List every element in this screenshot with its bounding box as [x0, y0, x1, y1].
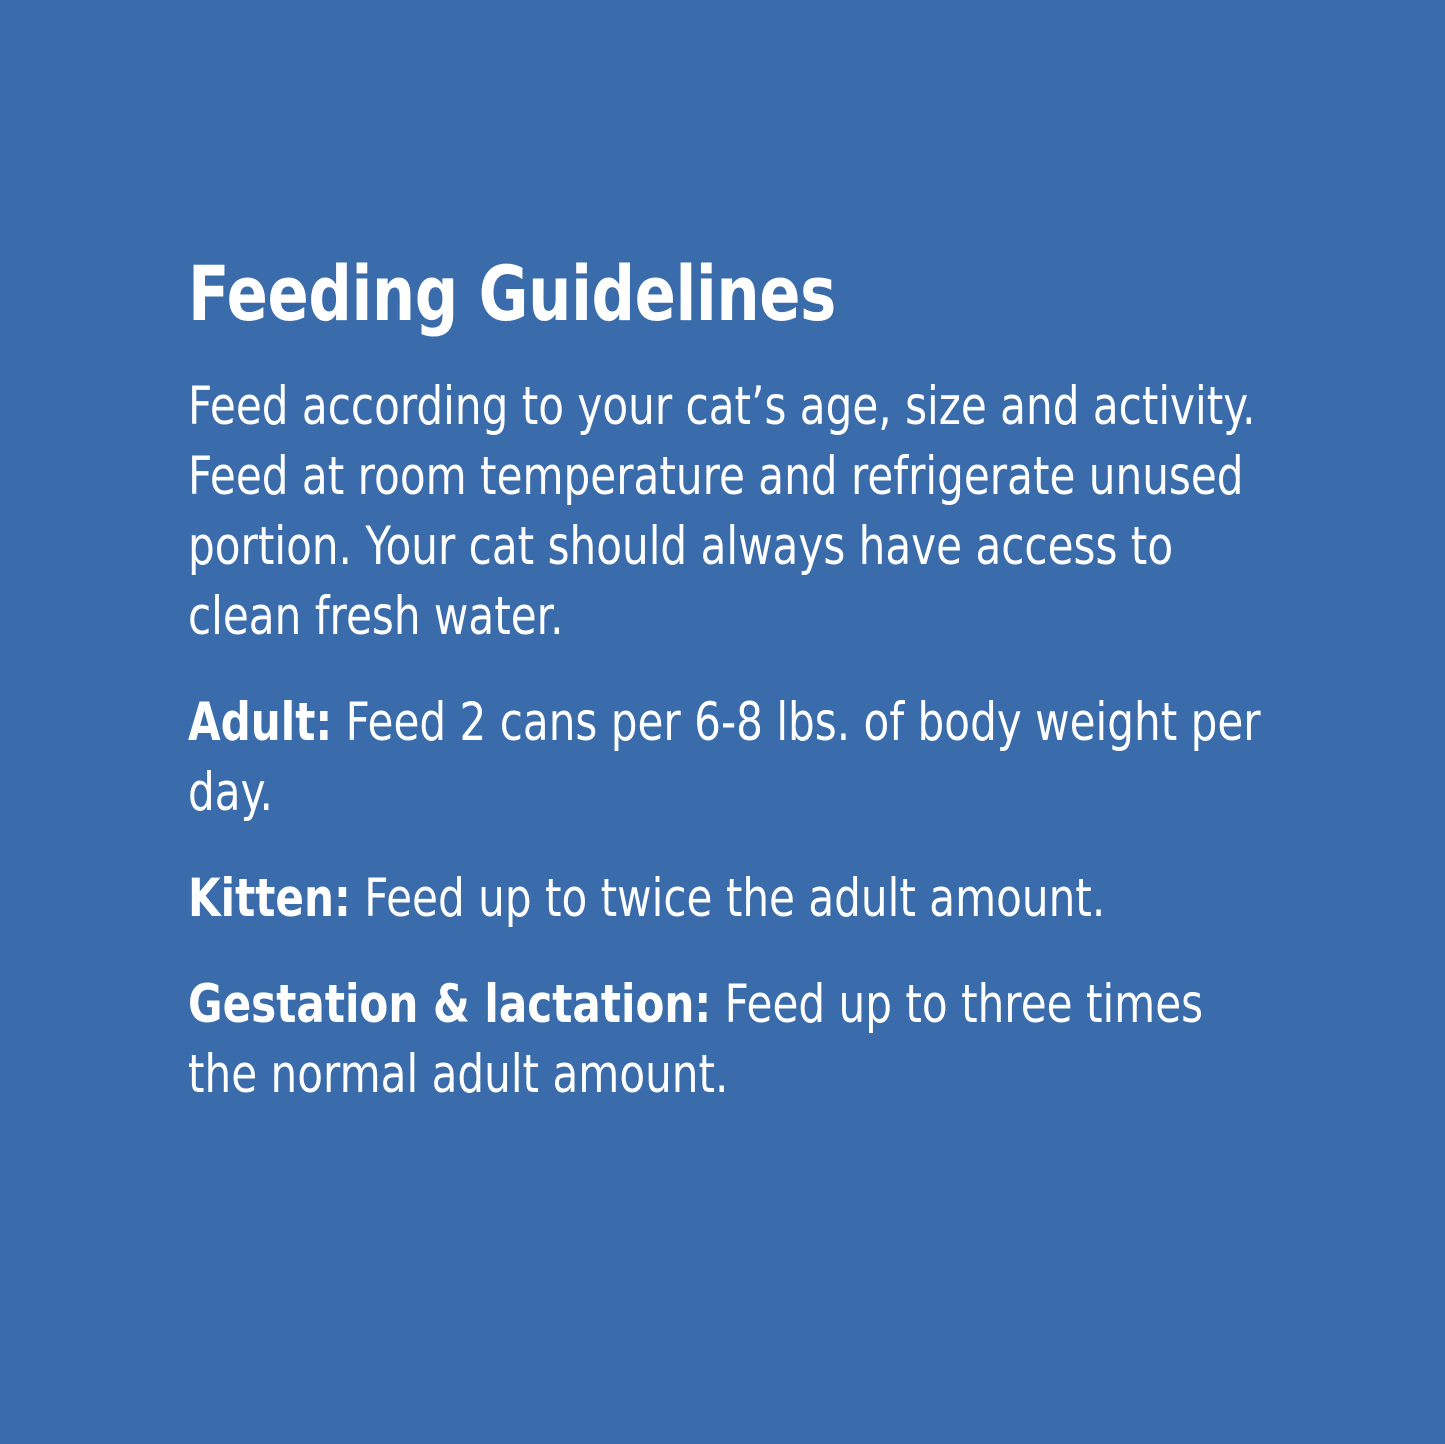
feeding-guidelines-panel: Feeding Guidelines Feed according to you…: [0, 0, 1445, 1444]
guideline-kitten: Kitten: Feed up to twice the adult amoun…: [188, 864, 1266, 934]
intro-paragraph: Feed according to your cat’s age, size a…: [188, 372, 1266, 652]
guideline-kitten-label: Kitten:: [188, 868, 351, 929]
guideline-adult: Adult: Feed 2 cans per 6-8 lbs. of body …: [188, 688, 1266, 828]
guideline-gestation-lactation: Gestation & lactation: Feed up to three …: [188, 970, 1266, 1110]
guideline-adult-text: Feed 2 cans per 6-8 lbs. of body weight …: [188, 692, 1261, 823]
content-column: Feeding Guidelines Feed according to you…: [188, 252, 1266, 1110]
guideline-kitten-text: Feed up to twice the adult amount.: [351, 868, 1105, 929]
guideline-adult-label: Adult:: [188, 692, 332, 753]
page-title: Feeding Guidelines: [188, 252, 1266, 336]
guideline-gestation-lactation-label: Gestation & lactation:: [188, 974, 711, 1035]
